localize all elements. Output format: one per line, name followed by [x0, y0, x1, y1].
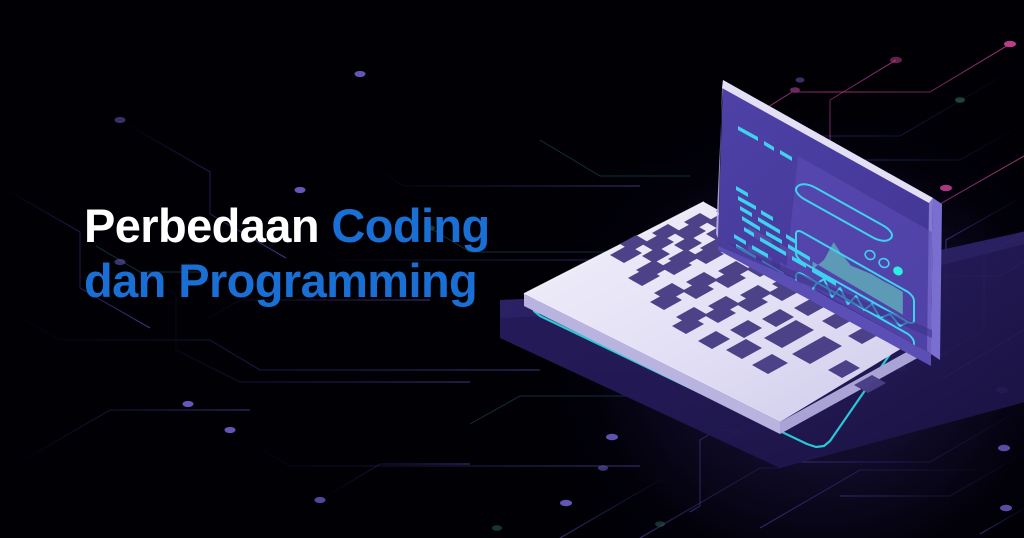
headline-words-dan-programming: dan Programming [84, 254, 477, 307]
headline-line-1: Perbedaan Coding [84, 198, 604, 253]
headline-word-perbedaan: Perbedaan [84, 199, 331, 252]
headline-line-2: dan Programming [84, 253, 604, 308]
hero-banner: Perbedaan Coding dan Programming [0, 0, 1024, 538]
headline-word-coding: Coding [331, 199, 489, 252]
page-title: Perbedaan Coding dan Programming [84, 198, 604, 309]
